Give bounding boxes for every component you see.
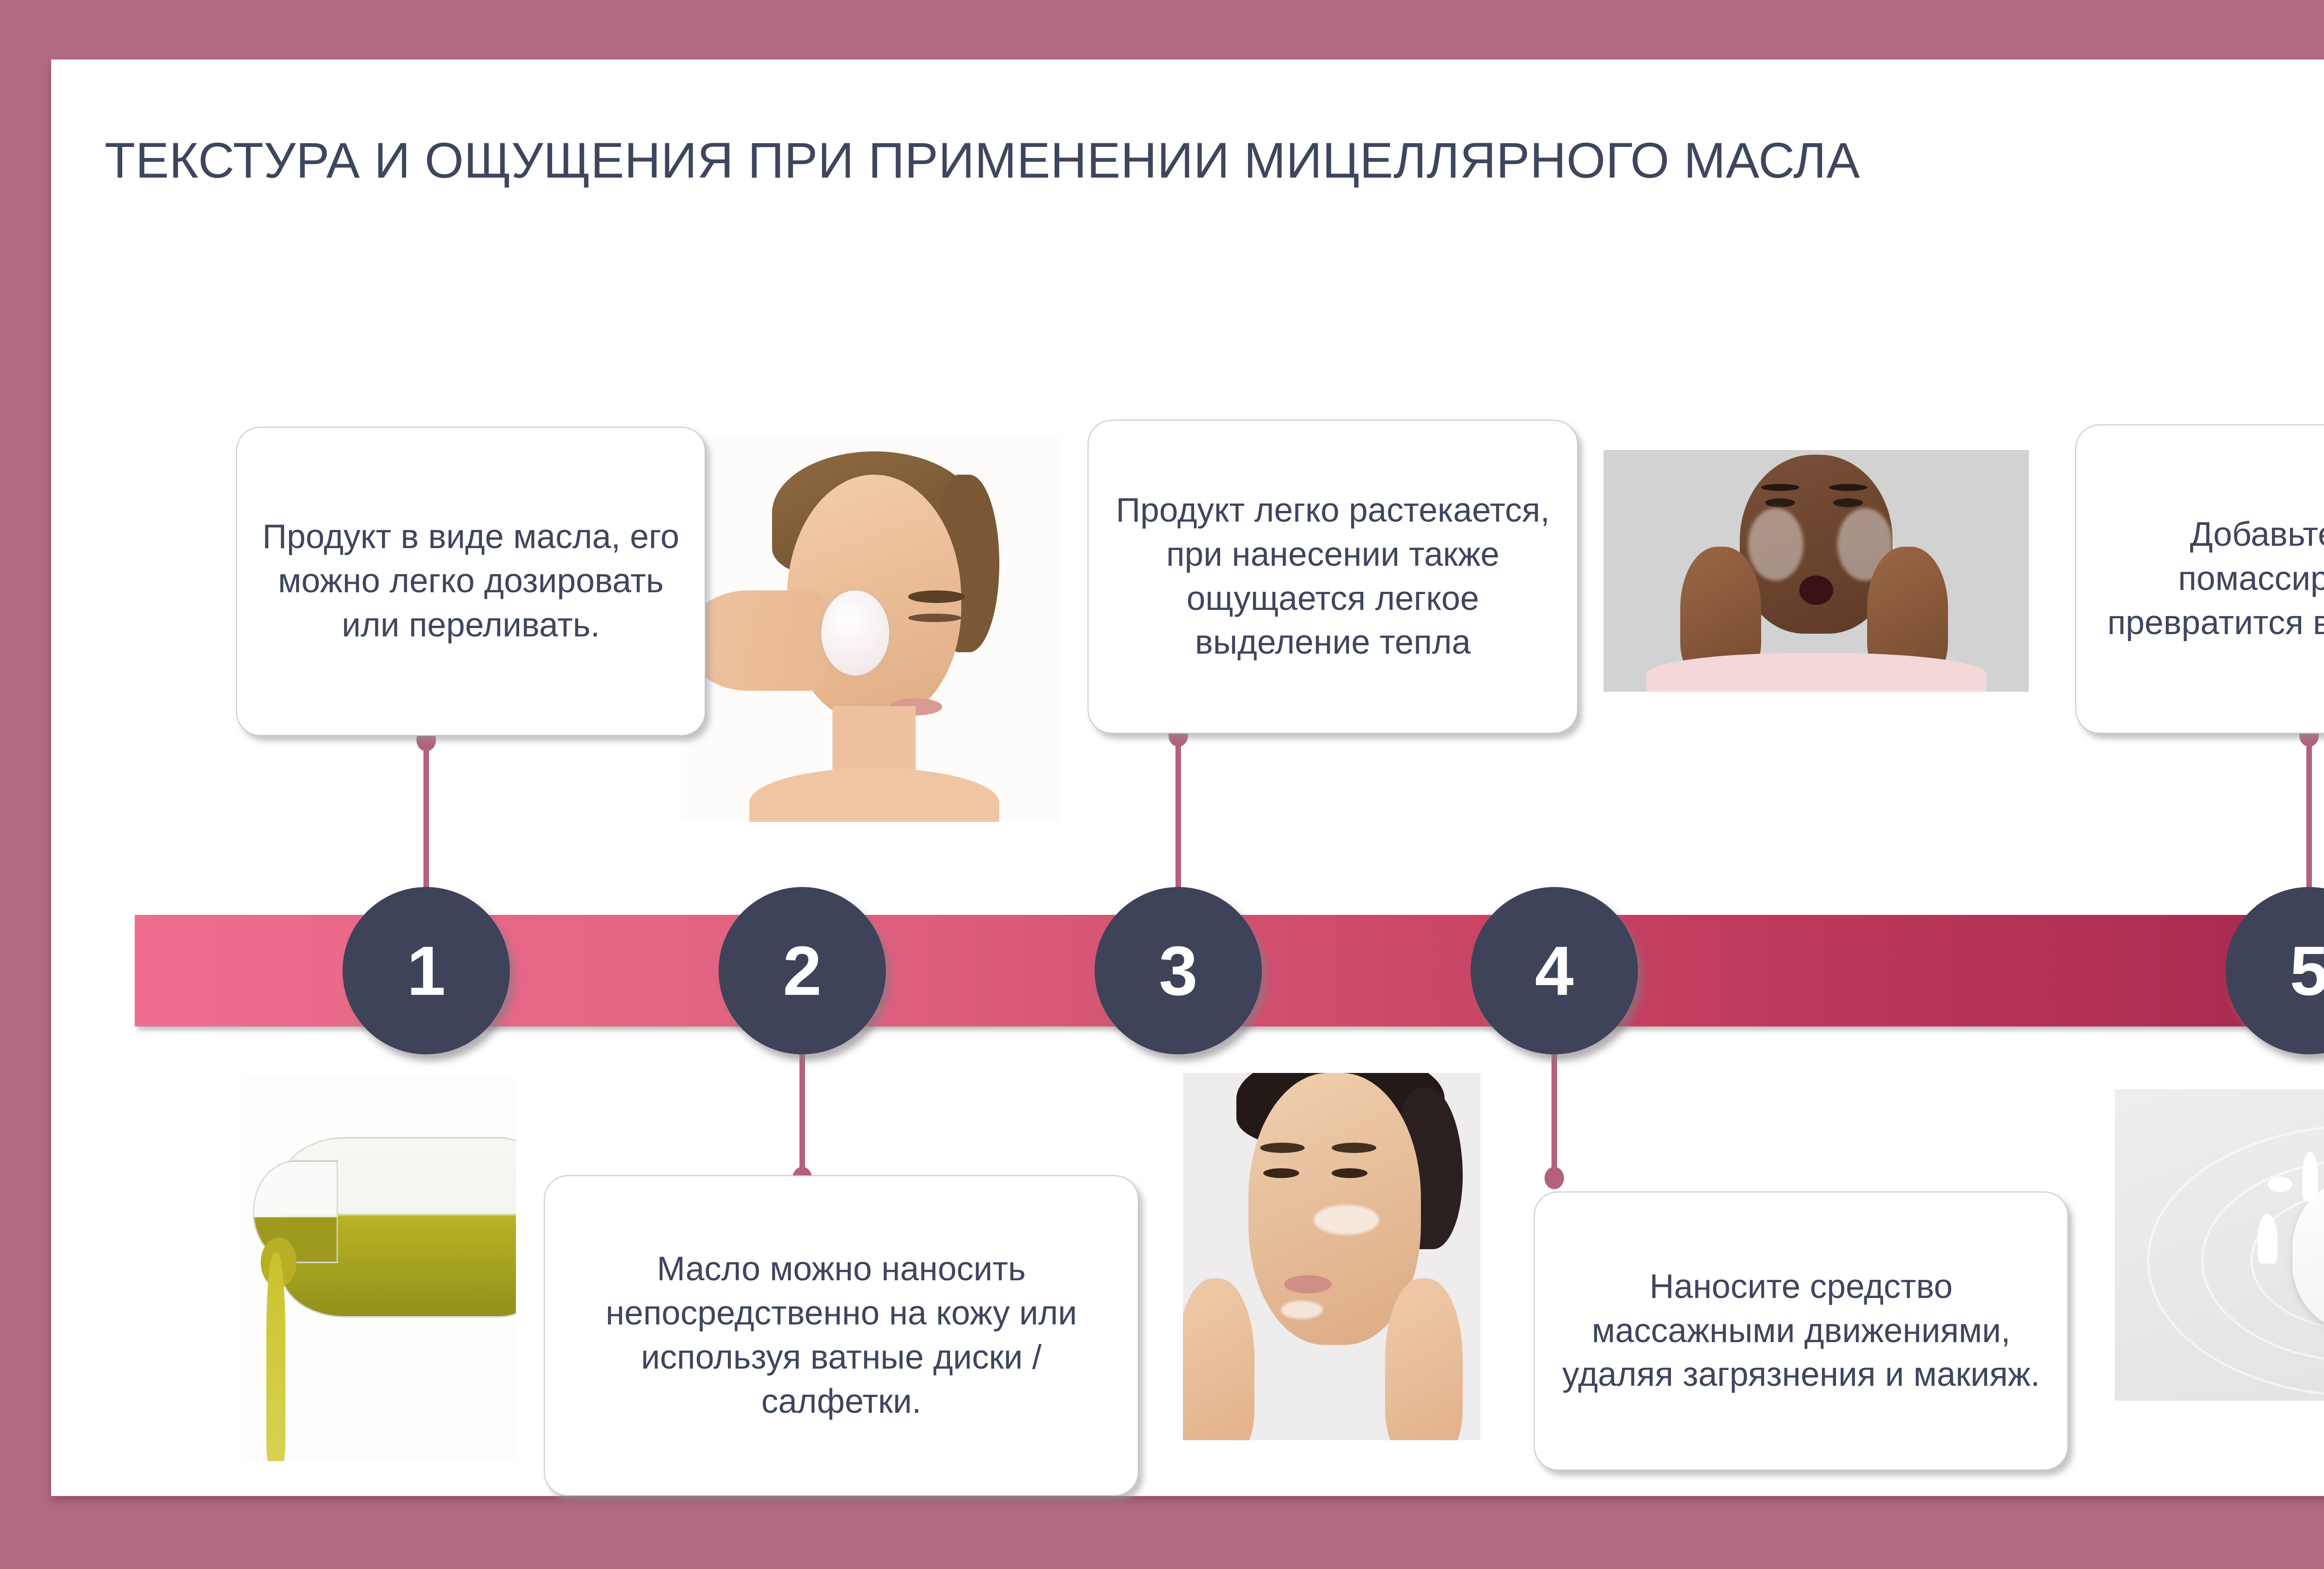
step-card-1-text: Продукт в виде масла, его можно легко до… <box>257 515 684 648</box>
step-node-4-label: 4 <box>1535 936 1573 1006</box>
step-card-4-text: Наносите средство массажными движениями,… <box>1555 1265 2047 1397</box>
step-node-2[interactable]: 2 <box>719 887 886 1054</box>
step-card-3-text: Продукт легко растекается, при нанесении… <box>1109 489 1557 665</box>
step-node-2-label: 2 <box>783 936 821 1006</box>
step-card-5-text: Добавьте теплую воду, помассируйте, сред… <box>2097 513 2324 645</box>
step-node-3-label: 3 <box>1159 936 1197 1006</box>
step-node-4[interactable]: 4 <box>1471 887 1638 1054</box>
step-card-1: Продукт в виде масла, его можно легко до… <box>236 427 706 736</box>
slide-frame: ТЕКСТУРА И ОЩУЩЕНИЯ ПРИ ПРИМЕНЕНИИ МИЦЕЛ… <box>0 0 2324 1569</box>
step-card-3: Продукт легко растекается, при нанесении… <box>1088 420 1578 734</box>
step-node-1-label: 1 <box>407 936 445 1006</box>
cotton-pad-photo <box>681 436 1060 822</box>
page-title: ТЕКСТУРА И ОЩУЩЕНИЯ ПРИ ПРИМЕНЕНИИ МИЦЕЛ… <box>105 134 2324 186</box>
slide-canvas: ТЕКСТУРА И ОЩУЩЕНИЯ ПРИ ПРИМЕНЕНИИ МИЦЕЛ… <box>51 60 2324 1496</box>
oil-pouring-photo <box>242 1075 516 1461</box>
asian-woman-photo <box>1183 1073 1480 1440</box>
step-card-5: Добавьте теплую воду, помассируйте, сред… <box>2075 424 2324 734</box>
step-card-2-text: Масло можно наносить непосредственно на … <box>565 1247 1117 1424</box>
step-node-5-label: 5 <box>2290 936 2324 1006</box>
man-cleansing-photo <box>1604 450 2029 692</box>
step-card-4: Наносите средство массажными движениями,… <box>1534 1192 2068 1470</box>
step-node-1[interactable]: 1 <box>343 887 510 1054</box>
step-node-3[interactable]: 3 <box>1095 887 1262 1054</box>
milk-splash-photo <box>2115 1089 2324 1401</box>
step-node-5[interactable]: 5 <box>2225 887 2324 1054</box>
step-card-2: Масло можно наносить непосредственно на … <box>544 1175 1139 1496</box>
